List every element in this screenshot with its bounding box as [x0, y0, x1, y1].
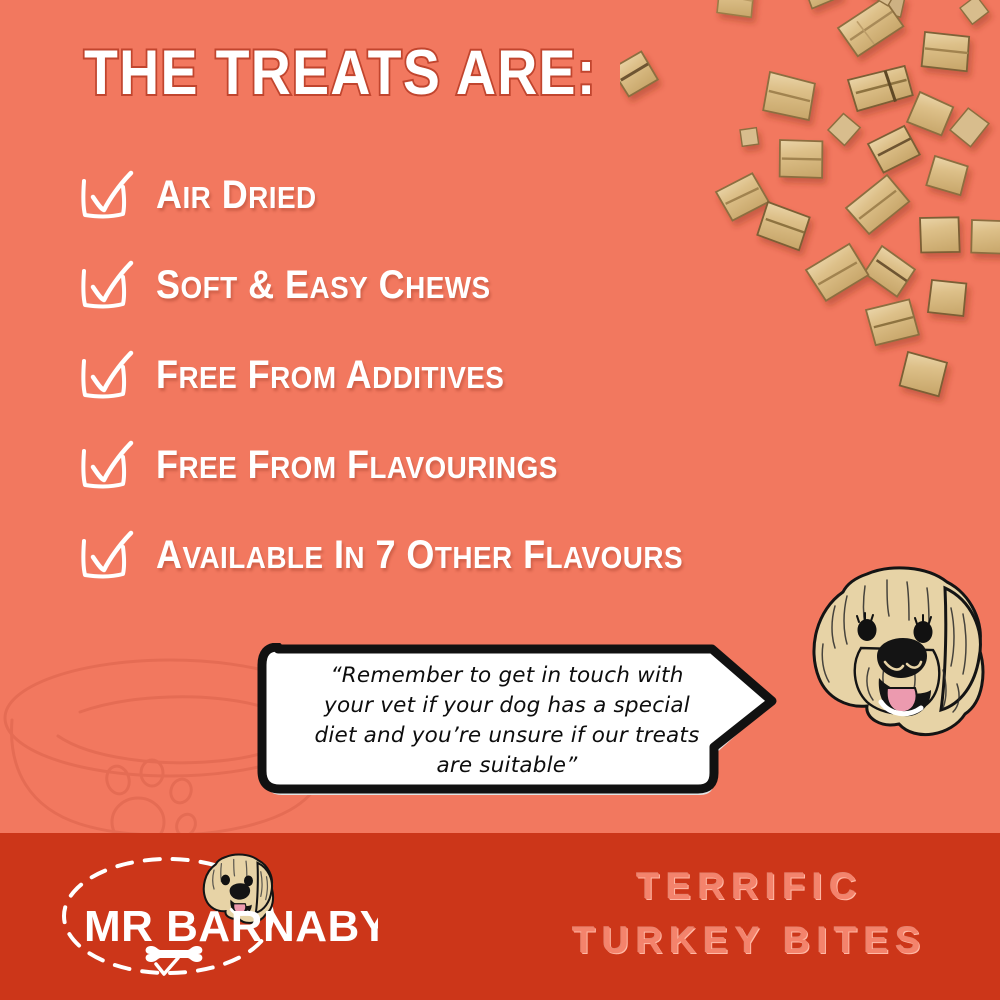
bubble-line: “Remember to get in touch with: [276, 661, 738, 691]
speech-bubble: “Remember to get in touch with your vet …: [252, 643, 782, 803]
page-title: THE TREATS ARE:: [84, 42, 597, 105]
dog-head-icon: [795, 552, 1000, 752]
speech-bubble-text: “Remember to get in touch with your vet …: [276, 661, 738, 781]
checkbox-checked-icon[interactable]: [78, 259, 134, 311]
checkbox-checked-icon[interactable]: [78, 439, 134, 491]
list-item-label: FREE FROM FLAVOURINGS: [156, 443, 558, 488]
list-item-label: FREE FROM ADDITIVES: [156, 353, 504, 398]
bubble-line: diet and you’re unsure if our treats: [276, 721, 738, 751]
list-item: AIR DRIED: [78, 150, 938, 240]
checkbox-checked-icon[interactable]: [78, 169, 134, 221]
list-item: SOFT & EASY CHEWS: [78, 240, 938, 330]
brand-logo[interactable]: MR BARNABY’S: [48, 846, 378, 986]
checkbox-checked-icon[interactable]: [78, 529, 134, 581]
list-item-label: SOFT & EASY CHEWS: [156, 263, 491, 308]
list-item-label: AIR DRIED: [156, 173, 317, 218]
list-item-label: AVAILABLE IN 7 OTHER FLAVOURS: [156, 533, 683, 578]
checkbox-checked-icon[interactable]: [78, 349, 134, 401]
list-item: FREE FROM ADDITIVES: [78, 330, 938, 420]
brand-wordmark: MR BARNABY’S: [84, 902, 378, 951]
product-name-line1: TERRIFIC: [520, 860, 980, 914]
poster-canvas: THE TREATS ARE: AIR DRIED SOFT & EASY CH…: [0, 0, 1000, 1000]
benefits-checklist: AIR DRIED SOFT & EASY CHEWS FREE FROM AD…: [78, 150, 938, 600]
product-name-line2: TURKEY BITES: [520, 914, 980, 968]
bubble-line: your vet if your dog has a special: [276, 691, 738, 721]
bubble-line: are suitable”: [276, 751, 738, 781]
product-name: TERRIFIC TURKEY BITES: [520, 860, 980, 968]
list-item: FREE FROM FLAVOURINGS: [78, 420, 938, 510]
